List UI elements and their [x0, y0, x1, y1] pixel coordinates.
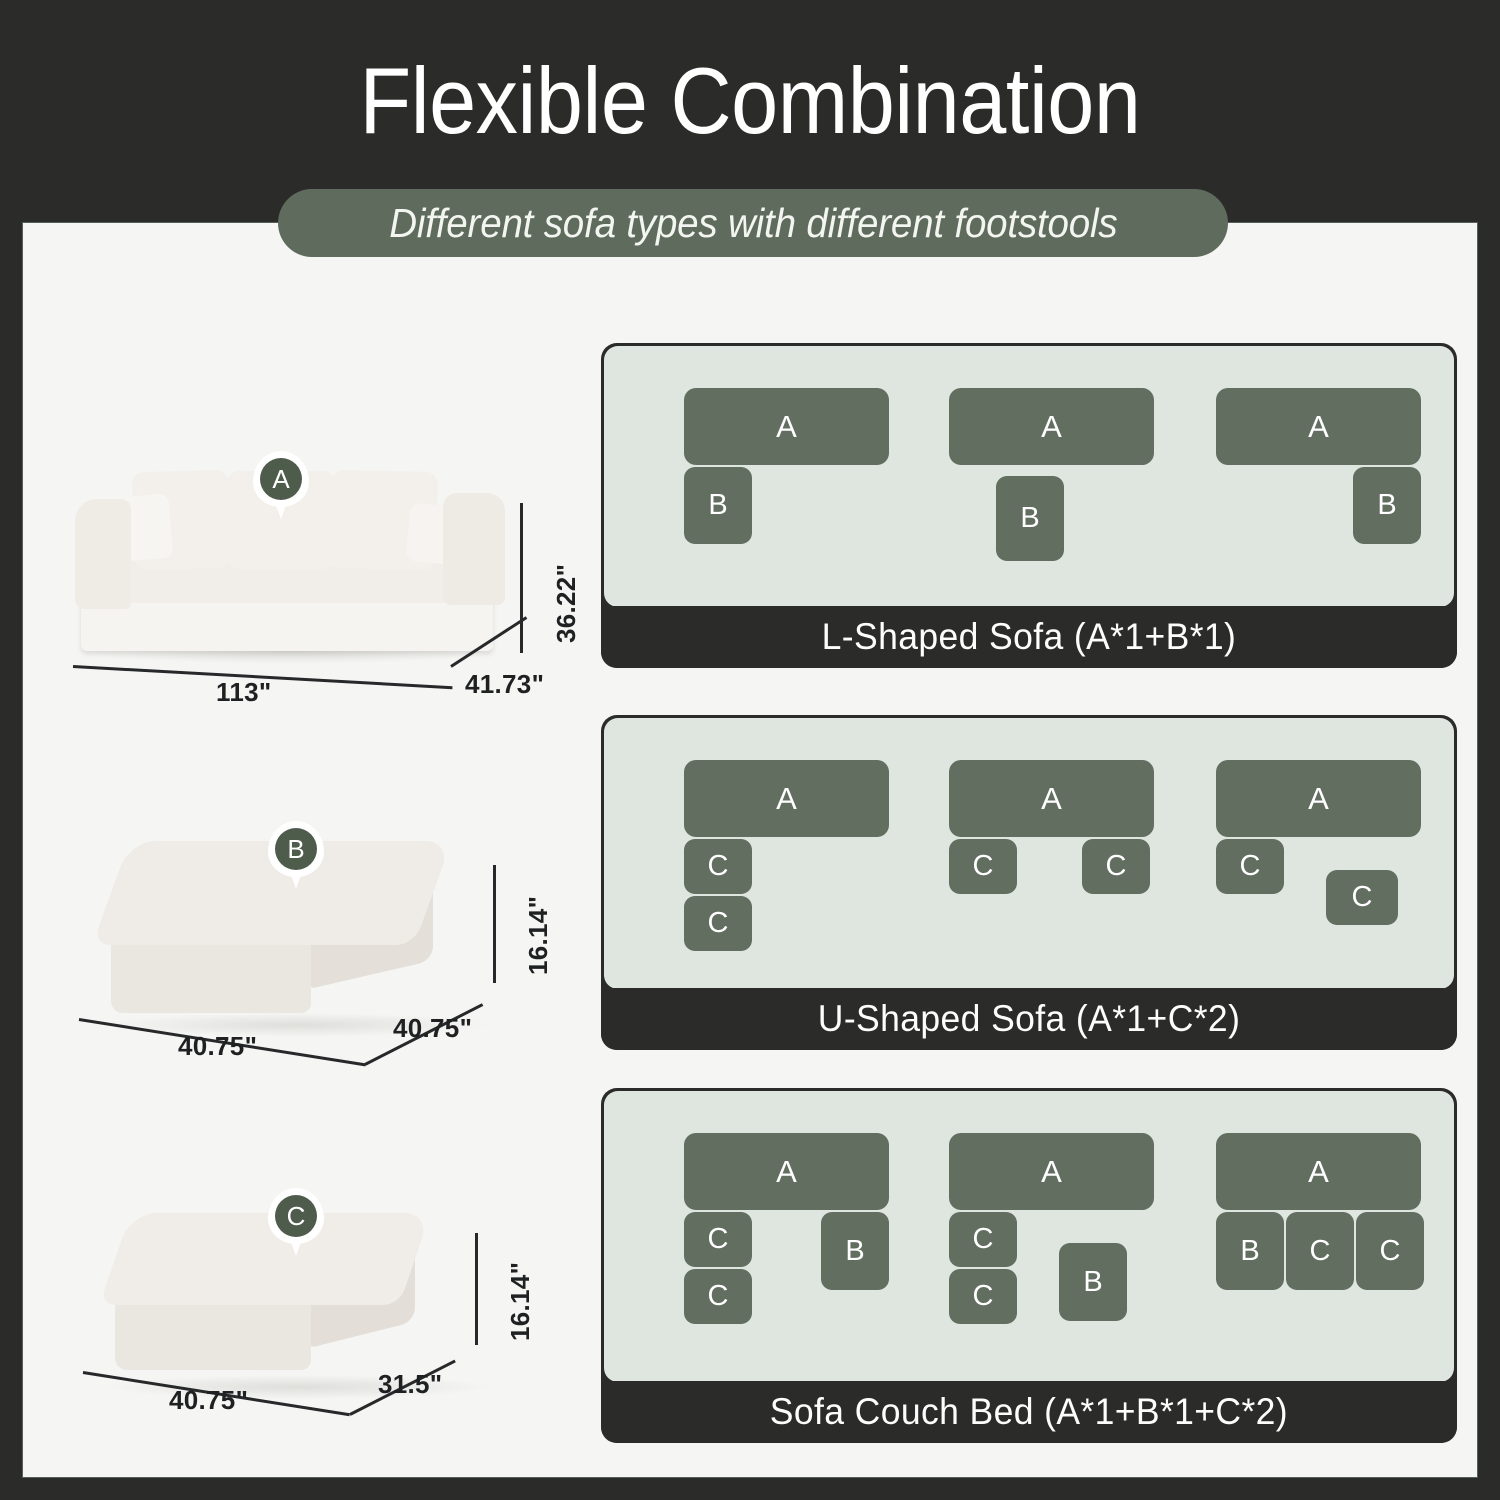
- dim-label-depth-a: 41.73": [465, 669, 544, 700]
- marker-pin-b: B: [268, 821, 324, 893]
- infographic-root: Flexible Combination Different sofa type…: [0, 0, 1500, 1500]
- module-block-b: B: [996, 476, 1064, 561]
- panel-diagram-area: ACCACCACC: [604, 718, 1454, 989]
- module-block-c: C: [949, 1212, 1017, 1267]
- content-board: A 113" 41.73" 36.22" B: [22, 222, 1478, 1478]
- marker-pin-a: A: [253, 451, 309, 523]
- module-block-b: B: [1059, 1243, 1127, 1321]
- module-block-a: A: [949, 1133, 1154, 1210]
- panel-label-bar: U-Shaped Sofa (A*1+C*2): [601, 988, 1457, 1050]
- subtitle-pill: Different sofa types with different foot…: [278, 189, 1228, 257]
- module-block-a: A: [949, 760, 1154, 837]
- panel-label: U-Shaped Sofa (A*1+C*2): [818, 998, 1240, 1040]
- dim-label-depth-b: 40.75": [393, 1013, 472, 1044]
- module-block-b: B: [1353, 467, 1421, 544]
- module-block-c: C: [1286, 1212, 1354, 1290]
- module-block-a: A: [949, 388, 1154, 465]
- module-block-a: A: [684, 760, 889, 837]
- dim-label-height-b: 16.14": [523, 896, 554, 975]
- module-block-c: C: [949, 1269, 1017, 1324]
- panel-label-bar: Sofa Couch Bed (A*1+B*1+C*2): [601, 1381, 1457, 1443]
- panel-diagram-area: ACCBACCBABCC: [604, 1091, 1454, 1382]
- module-block-b: B: [1216, 1212, 1284, 1290]
- panel-diagram-area: ABABAB: [604, 346, 1454, 607]
- module-block-c: C: [684, 896, 752, 951]
- module-block-a: A: [1216, 1133, 1421, 1210]
- marker-pin-c: C: [268, 1188, 324, 1260]
- combination-panel-u-shaped: ACCACCACC U-Shaped Sofa (A*1+C*2): [601, 715, 1457, 1050]
- dim-label-width-a: 113": [216, 677, 271, 708]
- module-block-a: A: [1216, 388, 1421, 465]
- module-block-c: C: [1216, 839, 1284, 894]
- pin-label: A: [260, 458, 302, 500]
- module-block-b: B: [821, 1212, 889, 1290]
- combination-panel-l-shaped: ABABAB L-Shaped Sofa (A*1+B*1): [601, 343, 1457, 668]
- dim-label-height-c: 16.14": [505, 1262, 536, 1341]
- pin-label: C: [275, 1195, 317, 1237]
- sofa-illustration: [23, 353, 583, 703]
- page-title: Flexible Combination: [75, 52, 1425, 151]
- module-block-a: A: [1216, 760, 1421, 837]
- product-sofa-a: A 113" 41.73" 36.22": [23, 353, 583, 703]
- subtitle-text: Different sofa types with different foot…: [389, 200, 1117, 247]
- module-block-a: A: [684, 1133, 889, 1210]
- dim-line-height-c: [475, 1233, 478, 1345]
- module-block-c: C: [1356, 1212, 1424, 1290]
- module-block-b: B: [684, 467, 752, 544]
- panel-label: Sofa Couch Bed (A*1+B*1+C*2): [770, 1391, 1288, 1433]
- module-block-c: C: [1326, 870, 1398, 925]
- panel-label-bar: L-Shaped Sofa (A*1+B*1): [601, 606, 1457, 668]
- pin-label: B: [275, 828, 317, 870]
- dim-label-width-c: 40.75": [169, 1385, 248, 1416]
- module-block-c: C: [949, 839, 1017, 894]
- sofa-arm-right: [443, 493, 505, 605]
- dim-label-width-b: 40.75": [178, 1031, 257, 1062]
- dim-line-height-b: [493, 865, 496, 983]
- ottoman-c-illustration: [23, 1093, 583, 1433]
- product-ottoman-c: C 40.75" 31.5" 16.14": [23, 1093, 583, 1433]
- combination-panel-sofa-couch-bed: ACCBACCBABCC Sofa Couch Bed (A*1+B*1+C*2…: [601, 1088, 1457, 1443]
- module-block-c: C: [684, 1212, 752, 1267]
- module-block-c: C: [684, 1269, 752, 1324]
- dim-label-depth-c: 31.5": [378, 1369, 442, 1400]
- dim-label-height-a: 36.22": [551, 564, 582, 643]
- module-block-c: C: [1082, 839, 1150, 894]
- sofa-arm-left: [75, 499, 131, 609]
- dim-line-height-a: [520, 503, 523, 653]
- panel-label: L-Shaped Sofa (A*1+B*1): [822, 616, 1237, 658]
- ottoman-c-top: [99, 1213, 431, 1305]
- product-ottoman-b: B 40.75" 40.75" 16.14": [23, 713, 583, 1063]
- module-block-a: A: [684, 388, 889, 465]
- module-block-c: C: [684, 839, 752, 894]
